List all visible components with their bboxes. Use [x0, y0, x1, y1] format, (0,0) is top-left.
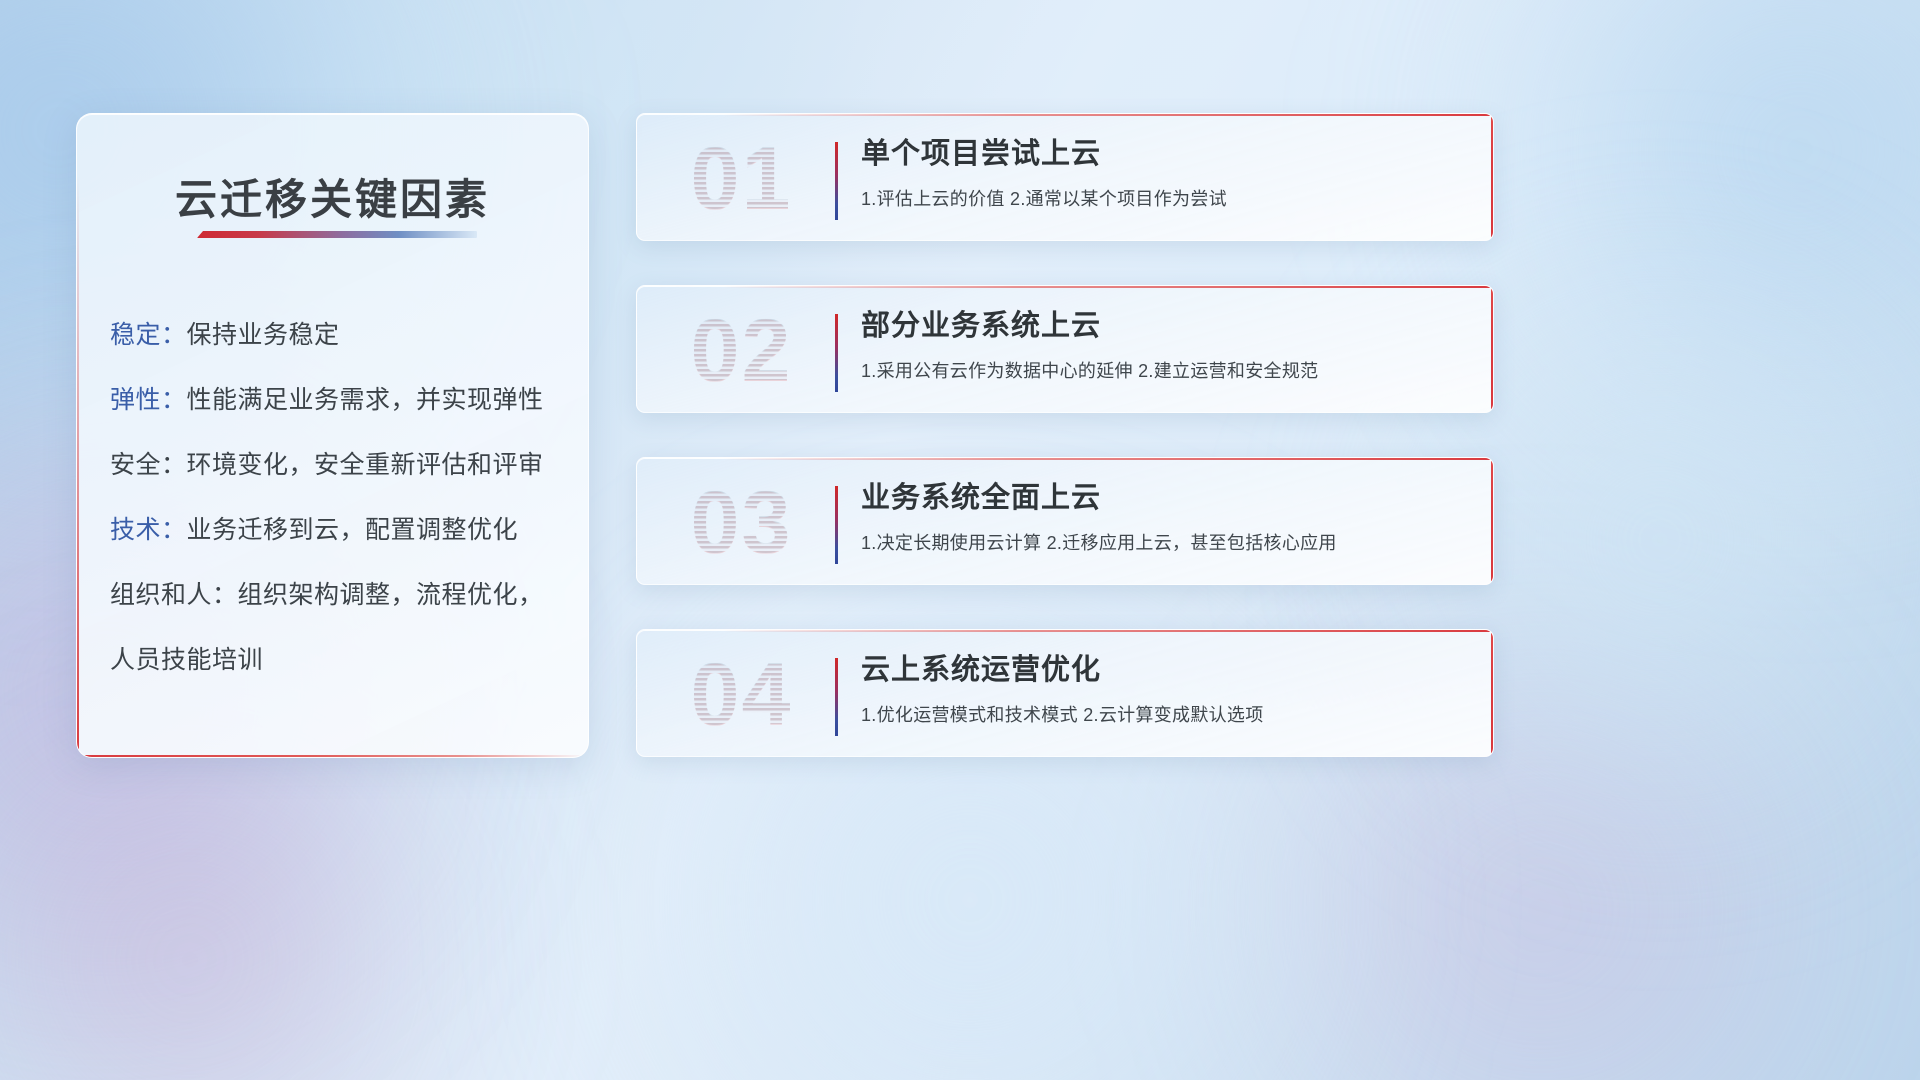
stage-card[interactable]: 01 单个项目尝试上云 1.评估上云的价值 2.通常以某个项目作为尝试	[636, 113, 1494, 241]
stage-divider	[835, 486, 838, 564]
stage-number-ghost: 04	[659, 638, 824, 750]
stage-description: 1.评估上云的价值 2.通常以某个项目作为尝试	[861, 185, 1465, 211]
key-factor-item: 技术：业务迁移到云，配置调整优化	[110, 514, 568, 546]
key-factor-text: 环境变化，安全重新评估和评审	[187, 451, 544, 479]
stage-card[interactable]: 03 业务系统全面上云 1.决定长期使用云计算 2.迁移应用上云，甚至包括核心应…	[636, 457, 1494, 585]
stage-card[interactable]: 02 部分业务系统上云 1.采用公有云作为数据中心的延伸 2.建立运营和安全规范	[636, 285, 1494, 413]
key-factor-label: 弹性：	[110, 386, 187, 414]
stage-title: 云上系统运营优化	[861, 652, 1465, 688]
key-factor-label: 安全：	[110, 451, 187, 479]
key-factor-label: 组织和人：	[110, 581, 238, 609]
stage-divider	[835, 314, 838, 392]
page-title: 云迁移关键因素	[77, 166, 588, 227]
stage-number-ghost: 01	[659, 122, 824, 234]
title-underline-accent	[197, 231, 477, 238]
stage-description: 1.优化运营模式和技术模式 2.云计算变成默认选项	[861, 701, 1465, 727]
stage-divider	[835, 142, 838, 220]
key-factor-item: 稳定：保持业务稳定	[110, 319, 568, 351]
key-factor-item: 弹性：性能满足业务需求，并实现弹性	[110, 384, 568, 416]
key-factor-item: 组织和人：组织架构调整，流程优化，	[110, 579, 568, 611]
key-factors-list: 稳定：保持业务稳定弹性：性能满足业务需求，并实现弹性安全：环境变化，安全重新评估…	[110, 319, 568, 676]
key-factor-text: 人员技能培训	[110, 646, 263, 674]
stage-divider	[835, 658, 838, 736]
key-factor-item: 安全：环境变化，安全重新评估和评审	[110, 449, 568, 481]
stage-card-body: 云上系统运营优化 1.优化运营模式和技术模式 2.云计算变成默认选项	[861, 652, 1465, 727]
key-factor-label: 稳定：	[110, 321, 187, 349]
key-factor-text: 组织架构调整，流程优化，	[238, 581, 544, 609]
stage-description: 1.决定长期使用云计算 2.迁移应用上云，甚至包括核心应用	[861, 529, 1465, 555]
stage-card-body: 单个项目尝试上云 1.评估上云的价值 2.通常以某个项目作为尝试	[861, 136, 1465, 211]
slide-stage: 云迁移关键因素 稳定：保持业务稳定弹性：性能满足业务需求，并实现弹性安全：环境变…	[0, 0, 1920, 1080]
stage-description: 1.采用公有云作为数据中心的延伸 2.建立运营和安全规范	[861, 357, 1465, 383]
key-factor-text: 保持业务稳定	[187, 321, 340, 349]
stage-number-ghost: 03	[659, 466, 824, 578]
stage-card-body: 部分业务系统上云 1.采用公有云作为数据中心的延伸 2.建立运营和安全规范	[861, 308, 1465, 383]
stage-title: 部分业务系统上云	[861, 308, 1465, 344]
key-factor-item: 人员技能培训	[110, 644, 568, 676]
stage-card-body: 业务系统全面上云 1.决定长期使用云计算 2.迁移应用上云，甚至包括核心应用	[861, 480, 1465, 555]
key-factor-text: 业务迁移到云，配置调整优化	[187, 516, 519, 544]
stage-title: 业务系统全面上云	[861, 480, 1465, 516]
key-factors-panel: 云迁移关键因素 稳定：保持业务稳定弹性：性能满足业务需求，并实现弹性安全：环境变…	[76, 113, 589, 758]
key-factor-text: 性能满足业务需求，并实现弹性	[187, 386, 544, 414]
stage-title: 单个项目尝试上云	[861, 136, 1465, 172]
key-factor-label: 技术：	[110, 516, 187, 544]
stage-card[interactable]: 04 云上系统运营优化 1.优化运营模式和技术模式 2.云计算变成默认选项	[636, 629, 1494, 757]
stage-number-ghost: 02	[659, 294, 824, 406]
